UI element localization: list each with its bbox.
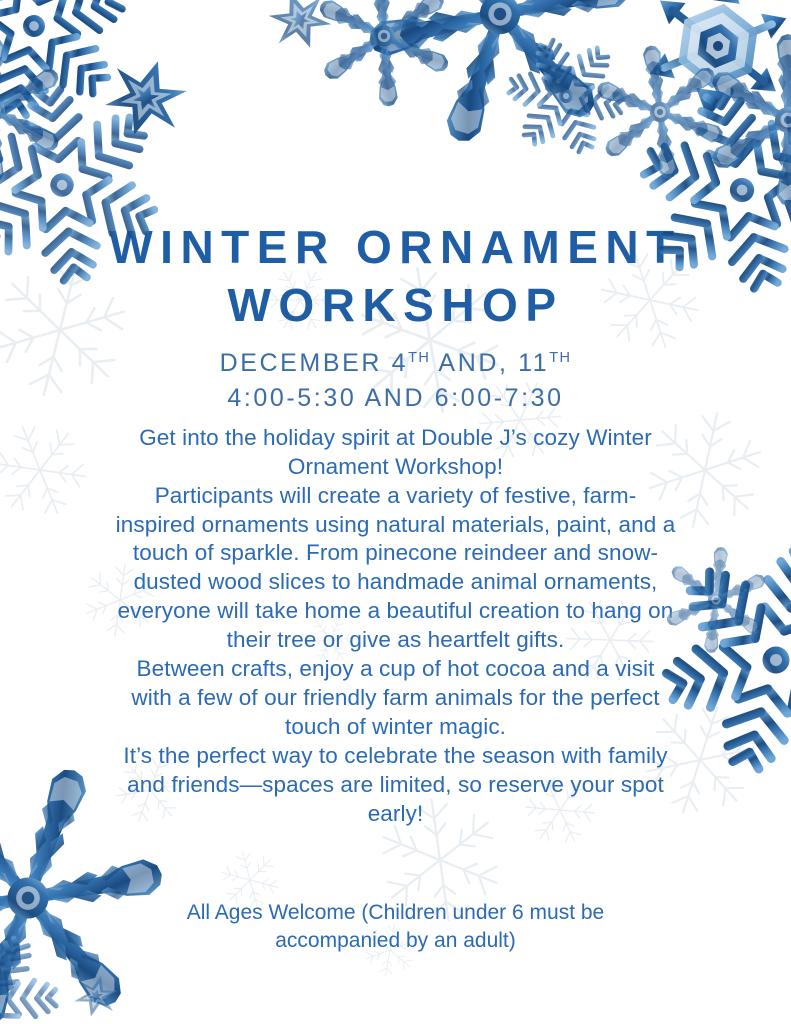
schedule-block: DECEMBER 4TH AND, 11TH 4:00-5:30 AND 6:0…: [0, 346, 791, 417]
event-dates: DECEMBER 4TH AND, 11TH: [0, 346, 791, 382]
body-paragraph: Between crafts, enjoy a cup of hot cocoa…: [116, 655, 676, 742]
footer-note-block: All Ages Welcome (Children under 6 must …: [136, 899, 656, 957]
date-ordinal-1: TH: [408, 350, 430, 366]
body-paragraph: Get into the holiday spirit at Double J’…: [116, 424, 676, 482]
page-title: WINTER ORNAMENT WORKSHOP: [0, 0, 791, 335]
date-ordinal-2: TH: [549, 350, 571, 366]
age-policy-note: All Ages Welcome (Children under 6 must …: [136, 899, 656, 957]
body-paragraph: It’s the perfect way to celebrate the se…: [116, 742, 676, 829]
date-prefix: DECEMBER 4: [220, 349, 409, 377]
title-line-2: WORKSHOP: [0, 276, 791, 334]
title-line-1: WINTER ORNAMENT: [0, 218, 791, 276]
event-times: 4:00-5:30 AND 6:00-7:30: [0, 381, 791, 417]
body-copy: Get into the holiday spirit at Double J’…: [116, 424, 676, 829]
flyer-content: WINTER ORNAMENT WORKSHOP DECEMBER 4TH AN…: [0, 0, 791, 956]
body-paragraph: Participants will create a variety of fe…: [116, 482, 676, 655]
date-middle: AND, 11: [430, 349, 549, 377]
flyer-page: WINTER ORNAMENT WORKSHOP DECEMBER 4TH AN…: [0, 0, 791, 1024]
